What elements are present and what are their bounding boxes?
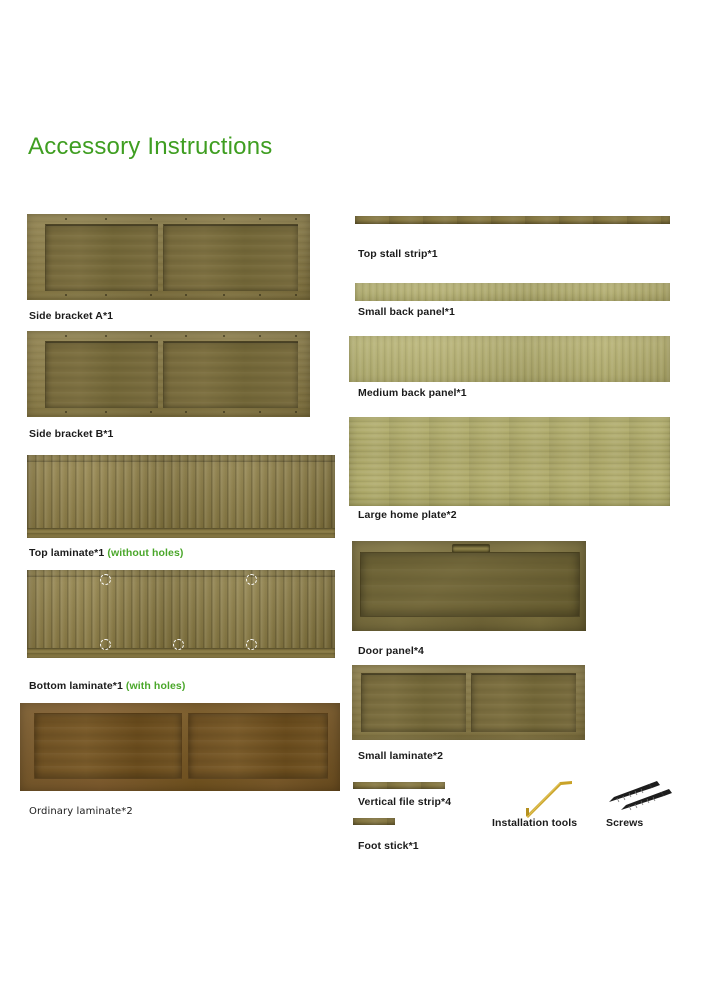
part-image-vertical-file-strip <box>353 782 445 789</box>
panel-top-rail <box>27 570 335 577</box>
label-vertical-file-strip: Vertical file strip*4 <box>358 796 451 808</box>
panel-recess-right <box>163 341 298 408</box>
instruction-sheet: Accessory Instructions Side bracket A*1 <box>0 0 707 1000</box>
label-side-bracket-a: Side bracket A*1 <box>29 310 113 322</box>
part-image-bottom-laminate <box>27 570 335 658</box>
label-medium-back-panel: Medium back panel*1 <box>358 387 467 399</box>
caption-vertical-file-strip: Vertical file strip*4 <box>358 796 451 808</box>
label-side-bracket-b: Side bracket B*1 <box>29 428 113 440</box>
part-image-small-laminate <box>352 665 585 740</box>
label-large-home-plate: Large home plate*2 <box>358 509 457 521</box>
note-top-laminate: (without holes) <box>107 547 183 559</box>
caption-screws: Screws <box>606 817 643 829</box>
door-handle-icon <box>452 544 490 553</box>
label-installation-tools: Installation tools <box>492 817 577 829</box>
panel-recess-right <box>471 673 576 732</box>
label-small-back-panel: Small back panel*1 <box>358 306 455 318</box>
caption-small-back-panel: Small back panel*1 <box>358 306 455 318</box>
label-top-stall-strip: Top stall strip*1 <box>358 248 438 260</box>
part-image-top-stall-strip <box>355 216 670 224</box>
label-small-laminate: Small laminate*2 <box>358 750 443 762</box>
part-image-large-home-plate <box>349 417 670 506</box>
caption-top-laminate: Top laminate*1 (without holes) <box>29 547 184 559</box>
hole-marker <box>100 574 111 585</box>
panel-top-rail <box>27 455 335 462</box>
part-image-top-laminate <box>27 455 335 538</box>
caption-foot-stick: Foot stick*1 <box>358 840 419 852</box>
caption-top-stall-strip: Top stall strip*1 <box>358 248 438 260</box>
caption-medium-back-panel: Medium back panel*1 <box>358 387 467 399</box>
caption-side-bracket-a: Side bracket A*1 <box>29 310 113 322</box>
part-image-side-bracket-a <box>27 214 310 300</box>
part-image-small-back-panel <box>355 283 670 301</box>
note-bottom-laminate: (with holes) <box>126 680 186 692</box>
panel-bottom-rail <box>27 528 335 538</box>
caption-bottom-laminate: Bottom laminate*1 (with holes) <box>29 680 185 692</box>
part-image-ordinary-laminate <box>20 703 340 791</box>
caption-ordinary-laminate: Ordinary laminate*2 <box>29 806 133 817</box>
part-image-door-panel <box>352 541 586 631</box>
panel-bottom-rail <box>27 648 335 658</box>
caption-door-panel: Door panel*4 <box>358 645 424 657</box>
part-image-foot-stick <box>353 818 395 825</box>
hole-marker <box>173 639 184 650</box>
hole-marker <box>100 639 111 650</box>
panel-recess-left <box>45 341 158 408</box>
screws-icon <box>605 780 677 820</box>
caption-small-laminate: Small laminate*2 <box>358 750 443 762</box>
panel-recess-right <box>188 713 328 779</box>
label-screws: Screws <box>606 817 643 829</box>
panel-recess-right <box>163 224 298 291</box>
label-top-laminate: Top laminate*1 <box>29 547 104 559</box>
page-title: Accessory Instructions <box>28 133 272 161</box>
label-foot-stick: Foot stick*1 <box>358 840 419 852</box>
panel-recess-left <box>361 673 466 732</box>
label-door-panel: Door panel*4 <box>358 645 424 657</box>
panel-recess-left <box>45 224 158 291</box>
caption-side-bracket-b: Side bracket B*1 <box>29 428 113 440</box>
label-bottom-laminate: Bottom laminate*1 <box>29 680 123 692</box>
hole-marker <box>246 574 257 585</box>
caption-installation-tools: Installation tools <box>492 817 577 829</box>
label-ordinary-laminate: Ordinary laminate*2 <box>29 806 133 817</box>
door-recess <box>360 552 580 617</box>
hole-marker <box>246 639 257 650</box>
caption-large-home-plate: Large home plate*2 <box>358 509 457 521</box>
panel-recess-left <box>34 713 182 779</box>
part-image-side-bracket-b <box>27 331 310 417</box>
part-image-medium-back-panel <box>349 336 670 382</box>
